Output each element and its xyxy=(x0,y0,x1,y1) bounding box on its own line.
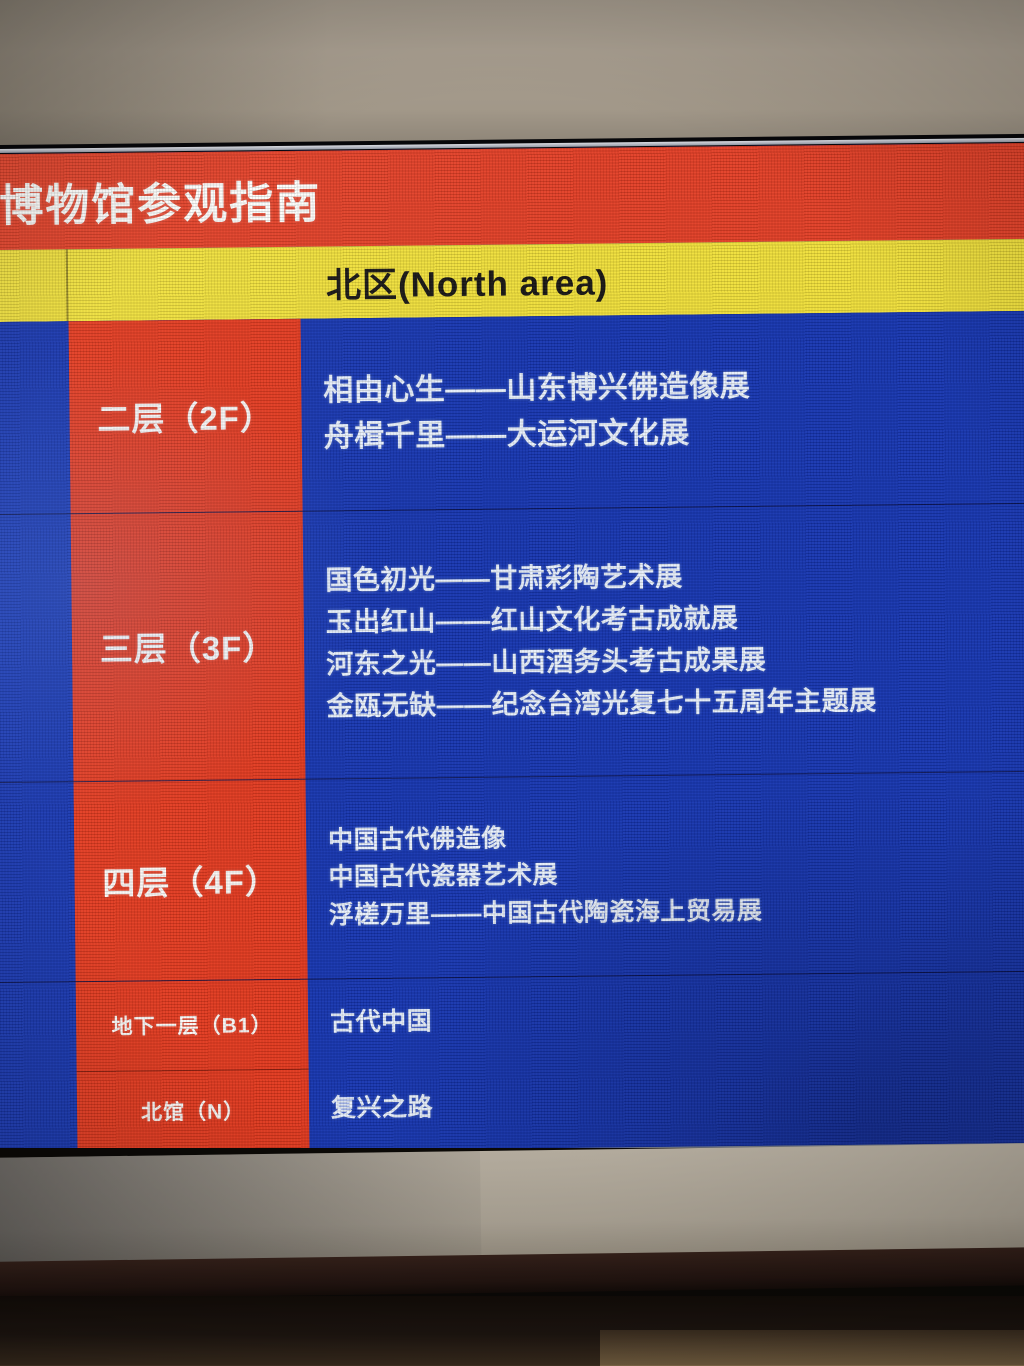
exhibition-item: 舟楫千里——大运河文化展 xyxy=(324,406,1024,460)
exhibition-cell-2f: 相由心生——山东博兴佛造像展 舟楫千里——大运河文化展 xyxy=(301,310,1024,510)
exhibition-cell-north-hall: 复兴之路 xyxy=(309,1060,1024,1150)
exhibition-item: 浮槎万里——中国古代陶瓷海上贸易展 xyxy=(329,889,1024,935)
floor-label-column: 二层（2F） 三层（3F） 四层（4F） 地下一层（B1） 北馆（N） xyxy=(69,319,310,1153)
exhibition-cell-3f: 国色初光——甘肃彩陶艺术展 玉出红山——红山文化考古成就展 河东之光——山西酒务… xyxy=(303,502,1024,778)
floor-highlight xyxy=(600,1330,1024,1366)
exhibition-table: 艺展 展 二层（2F） 三层（3F） 四层（4F） 地下一层（B1） 北馆（N）… xyxy=(0,310,1024,1154)
floor-label-b1: 地下一层（B1） xyxy=(76,979,309,1072)
header-left-cell xyxy=(0,249,69,322)
exhibition-cell-b1: 古代中国 xyxy=(308,970,1024,1068)
area-header-label: 北区(North area) xyxy=(68,238,1024,321)
page-title: 家博物馆参观指南 xyxy=(0,166,322,234)
exhibition-item: 古代中国 xyxy=(330,997,1024,1043)
title-banner: 家博物馆参观指南 xyxy=(0,142,1024,250)
exhibition-item: 河东之光——山西酒务头考古成果展 xyxy=(326,636,1024,686)
exhibition-column: 相由心生——山东博兴佛造像展 舟楫千里——大运河文化展 国色初光——甘肃彩陶艺术… xyxy=(301,310,1024,1150)
information-display-screen: 家博物馆参观指南 北区(North area) 艺展 展 二层（2F） 三层（3… xyxy=(0,133,1024,1167)
floor-label-north-hall: 北馆（N） xyxy=(77,1069,310,1154)
floor-label-4f: 四层（4F） xyxy=(74,779,308,981)
exhibition-item: 玉出红山——红山文化考古成就展 xyxy=(326,595,1024,645)
floor-label-2f: 二层（2F） xyxy=(69,319,303,513)
exhibition-item: 国色初光——甘肃彩陶艺术展 xyxy=(325,553,1024,603)
exhibition-item: 金瓯无缺——纪念台湾光复七十五周年主题展 xyxy=(326,678,1024,728)
left-cutoff-column: 艺展 展 xyxy=(0,321,78,1154)
exhibition-cell-4f: 中国古代佛造像 中国古代瓷器艺术展 浮槎万里——中国古代陶瓷海上贸易展 xyxy=(305,770,1024,978)
exhibition-item: 相由心生——山东博兴佛造像展 xyxy=(323,361,1024,415)
area-header-row: 北区(North area) xyxy=(0,238,1024,322)
floor-label-3f: 三层（3F） xyxy=(71,511,306,781)
wall-upper xyxy=(0,0,1024,146)
screen-content: 家博物馆参观指南 北区(North area) 艺展 展 二层（2F） 三层（3… xyxy=(0,142,1024,1154)
exhibition-item: 复兴之路 xyxy=(331,1083,1024,1129)
